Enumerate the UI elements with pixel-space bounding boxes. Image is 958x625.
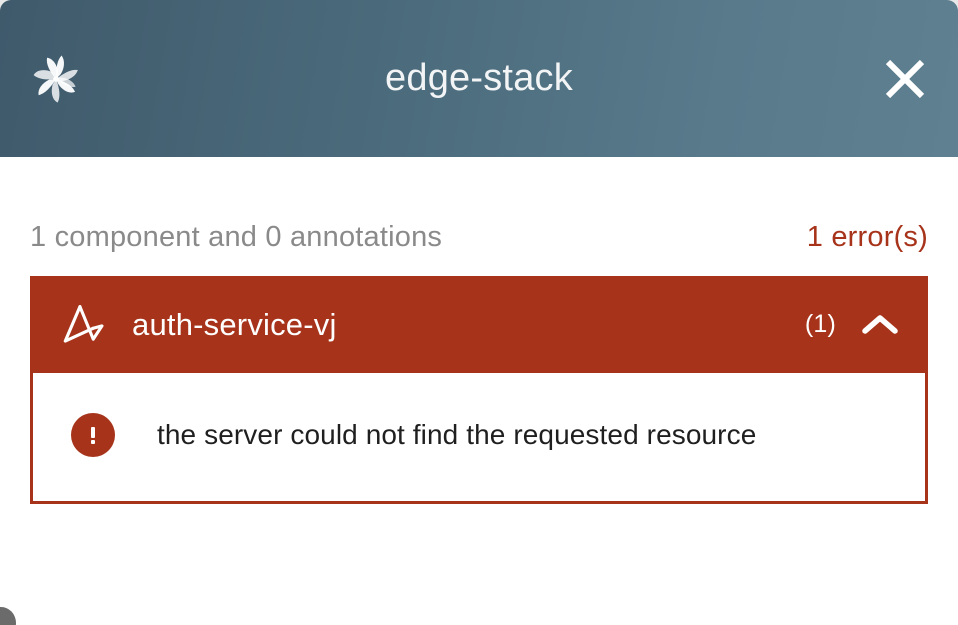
error-message: the server could not find the requested … <box>157 419 756 451</box>
summary-row: 1 component and 0 annotations 1 error(s) <box>30 157 928 276</box>
component-name: auth-service-vj <box>132 307 337 343</box>
modal-body: 1 component and 0 annotations 1 error(s)… <box>0 157 958 504</box>
exclamation-circle-icon <box>71 413 115 457</box>
component-header[interactable]: auth-service-vj (1) <box>30 276 928 373</box>
backdrop-corner-artifact <box>0 607 16 625</box>
component-card: auth-service-vj (1) <box>30 276 928 504</box>
list-item: the server could not find the requested … <box>71 413 895 457</box>
error-count-label: 1 error(s) <box>807 221 928 254</box>
component-annotation-count: 1 component and 0 annotations <box>30 221 442 254</box>
error-details-modal: edge-stack 1 component and 0 annotations… <box>0 0 958 625</box>
page-title: edge-stack <box>0 57 958 100</box>
chevron-up-icon <box>860 312 900 338</box>
close-icon <box>882 56 928 102</box>
ambassador-mapping-icon <box>60 303 110 347</box>
modal-header: edge-stack <box>0 0 958 157</box>
component-error-list: the server could not find the requested … <box>33 373 925 501</box>
collapse-toggle-button[interactable] <box>854 299 906 351</box>
close-button[interactable] <box>878 52 932 106</box>
component-error-badge: (1) <box>805 310 836 339</box>
pinwheel-logo-icon <box>28 51 84 107</box>
